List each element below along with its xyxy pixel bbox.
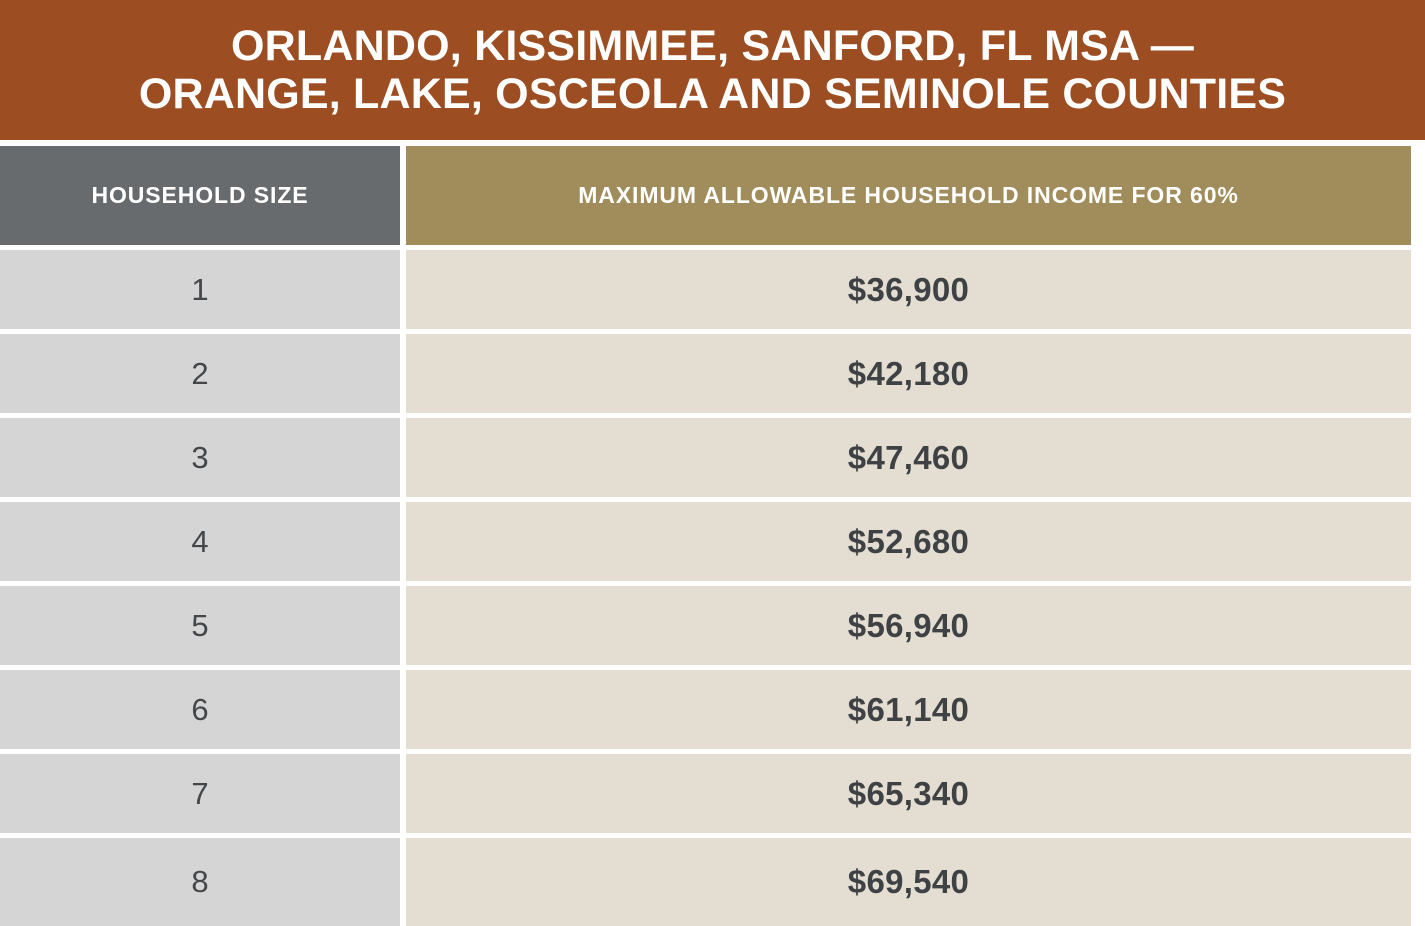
cell-max-income: $69,540 xyxy=(406,838,1411,926)
cell-max-income: $47,460 xyxy=(406,418,1411,497)
table-row: 2 $42,180 xyxy=(0,334,1411,413)
income-limits-table: HOUSEHOLD SIZE MAXIMUM ALLOWABLE HOUSEHO… xyxy=(0,146,1411,926)
household-size-value: 6 xyxy=(191,692,208,728)
table-row: 5 $56,940 xyxy=(0,586,1411,665)
cell-household-size: 5 xyxy=(0,586,400,665)
table-row: 6 $61,140 xyxy=(0,670,1411,749)
cell-household-size: 3 xyxy=(0,418,400,497)
max-income-value: $69,540 xyxy=(848,863,969,901)
header-cell-max-income: MAXIMUM ALLOWABLE HOUSEHOLD INCOME FOR 6… xyxy=(406,146,1411,245)
max-income-value: $42,180 xyxy=(848,355,969,393)
income-limits-table-page: ORLANDO, KISSIMMEE, SANFORD, FL MSA — OR… xyxy=(0,0,1425,900)
max-income-value: $36,900 xyxy=(848,271,969,309)
cell-max-income: $42,180 xyxy=(406,334,1411,413)
column-header-max-income-label: MAXIMUM ALLOWABLE HOUSEHOLD INCOME FOR 6… xyxy=(578,182,1239,209)
table-row: 4 $52,680 xyxy=(0,502,1411,581)
cell-household-size: 7 xyxy=(0,754,400,833)
household-size-value: 1 xyxy=(191,272,208,308)
household-size-value: 7 xyxy=(191,776,208,812)
table-header-row: HOUSEHOLD SIZE MAXIMUM ALLOWABLE HOUSEHO… xyxy=(0,146,1411,245)
table-row: 7 $65,340 xyxy=(0,754,1411,833)
column-header-household-size-label: HOUSEHOLD SIZE xyxy=(91,182,308,209)
table-row: 8 $69,540 xyxy=(0,838,1411,926)
cell-household-size: 2 xyxy=(0,334,400,413)
max-income-value: $65,340 xyxy=(848,775,969,813)
max-income-value: $52,680 xyxy=(848,523,969,561)
cell-household-size: 4 xyxy=(0,502,400,581)
household-size-value: 3 xyxy=(191,440,208,476)
cell-max-income: $65,340 xyxy=(406,754,1411,833)
household-size-value: 4 xyxy=(191,524,208,560)
table-row: 3 $47,460 xyxy=(0,418,1411,497)
max-income-value: $47,460 xyxy=(848,439,969,477)
title-banner: ORLANDO, KISSIMMEE, SANFORD, FL MSA — OR… xyxy=(0,0,1425,140)
cell-household-size: 1 xyxy=(0,250,400,329)
page-title: ORLANDO, KISSIMMEE, SANFORD, FL MSA — OR… xyxy=(139,22,1286,118)
header-cell-household-size: HOUSEHOLD SIZE xyxy=(0,146,400,245)
cell-household-size: 8 xyxy=(0,838,400,926)
household-size-value: 8 xyxy=(191,864,208,900)
cell-household-size: 6 xyxy=(0,670,400,749)
household-size-value: 5 xyxy=(191,608,208,644)
table-row: 1 $36,900 xyxy=(0,250,1411,329)
cell-max-income: $52,680 xyxy=(406,502,1411,581)
cell-max-income: $56,940 xyxy=(406,586,1411,665)
max-income-value: $61,140 xyxy=(848,691,969,729)
household-size-value: 2 xyxy=(191,356,208,392)
cell-max-income: $36,900 xyxy=(406,250,1411,329)
max-income-value: $56,940 xyxy=(848,607,969,645)
cell-max-income: $61,140 xyxy=(406,670,1411,749)
